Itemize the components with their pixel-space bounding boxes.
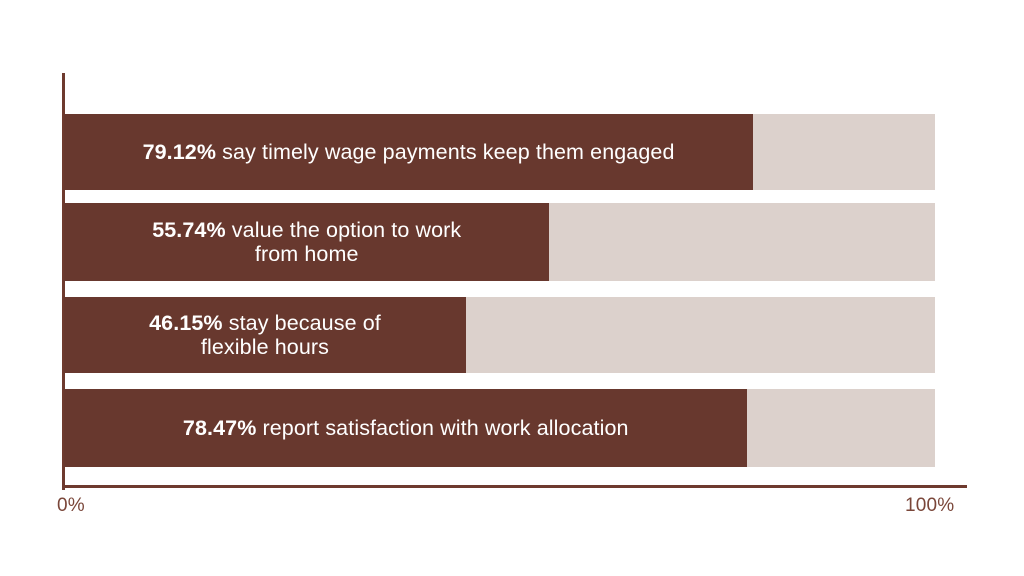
bar-label-wrap: 46.15% stay because of flexible hours [64,297,466,373]
bar-label: 55.74% value the option to work from hom… [64,203,549,281]
bar-description: value the option to work from home [226,218,462,266]
bar-label: 46.15% stay because of flexible hours [64,297,466,373]
bar-value-label: 79.12% [143,140,217,164]
bar-row: 46.15% stay because of flexible hours [64,297,935,373]
bar-value-label: 55.74% [152,218,226,242]
horizontal-bar-chart: 79.12% say timely wage payments keep the… [0,0,1024,576]
bar-row: 78.47% report satisfaction with work all… [64,389,935,467]
bar-label-wrap: 78.47% report satisfaction with work all… [64,389,747,467]
bar-row: 55.74% value the option to work from hom… [64,203,935,281]
bar-description: say timely wage payments keep them engag… [216,140,674,164]
x-axis-tick-max: 100% [905,495,954,517]
bar-label-wrap: 55.74% value the option to work from hom… [64,203,549,281]
bar-description: report satisfaction with work allocation [256,416,628,440]
bar-description: stay because of flexible hours [201,311,381,359]
x-axis-tick-min: 0% [57,495,85,517]
bar-value-label: 46.15% [149,311,223,335]
bar-label-wrap: 79.12% say timely wage payments keep the… [64,114,753,190]
x-axis-line [62,485,967,488]
bar-label: 78.47% report satisfaction with work all… [64,389,747,467]
bar-label: 79.12% say timely wage payments keep the… [64,114,753,190]
bar-value-label: 78.47% [183,416,257,440]
plot-area: 79.12% say timely wage payments keep the… [64,114,935,467]
bar-row: 79.12% say timely wage payments keep the… [64,114,935,190]
